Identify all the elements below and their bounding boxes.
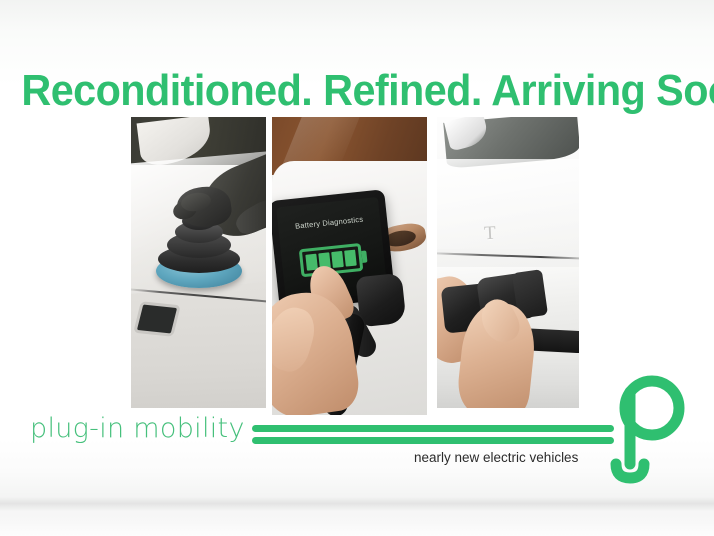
slide-canvas: Reconditioned. Refined. Arriving Soon bbox=[0, 0, 714, 536]
photo-strip: Battery Diagnostics bbox=[131, 117, 579, 417]
photography-photo: T bbox=[437, 117, 579, 408]
tesla-badge: T bbox=[475, 224, 506, 244]
battery-diagnostics-photo: Battery Diagnostics bbox=[272, 117, 427, 415]
battery-cell bbox=[331, 251, 343, 268]
battery-cell bbox=[345, 250, 357, 267]
brand-bar-bottom bbox=[252, 437, 614, 444]
plug-in-mobility-logo bbox=[596, 372, 696, 484]
paint-correction-photo bbox=[131, 117, 266, 408]
battery-terminal bbox=[361, 250, 367, 262]
page-title: Reconditioned. Refined. Arriving Soon bbox=[21, 68, 692, 114]
bottom-shadow-band bbox=[0, 497, 714, 511]
grille-vent bbox=[133, 301, 181, 337]
brand-tagline: nearly new electric vehicles bbox=[414, 450, 578, 466]
bodywork-highlight bbox=[437, 159, 579, 249]
brand-bar-top bbox=[252, 425, 614, 432]
battery-diagnostics-label: Battery Diagnostics bbox=[278, 213, 380, 233]
brand-wordmark: plug-in mobility bbox=[30, 414, 245, 444]
